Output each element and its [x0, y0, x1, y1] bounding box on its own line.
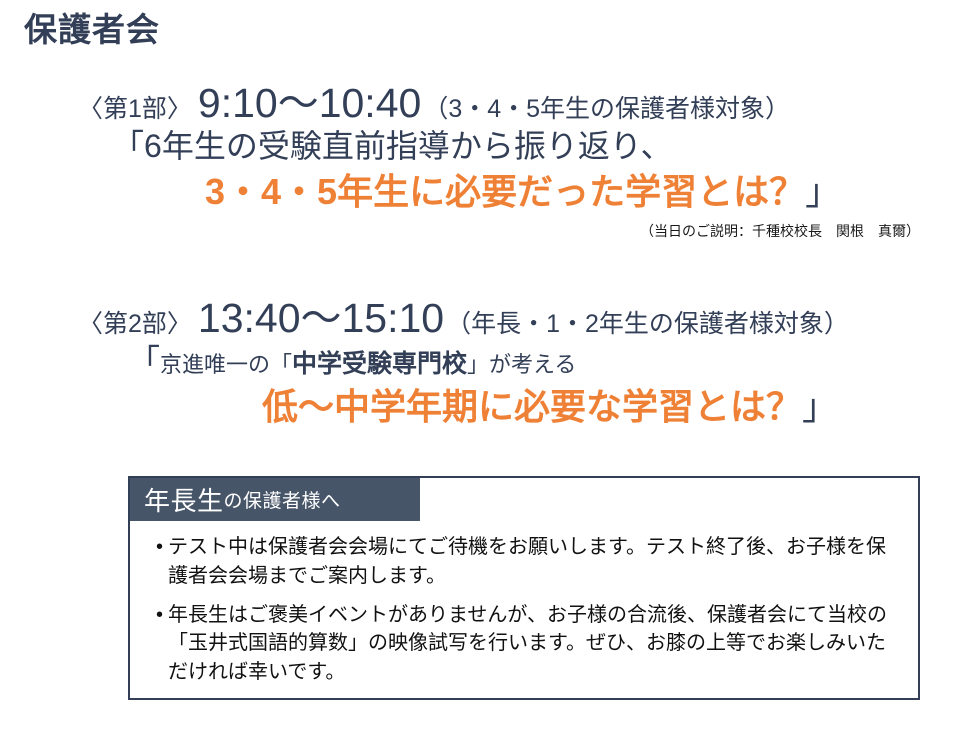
page-title: 保護者会	[24, 10, 160, 50]
session-1-quote-close: 」	[805, 171, 841, 212]
notice-box: 年長生の保護者様へ • テスト中は保護者会会場にてご待機をお願いします。テスト終…	[128, 476, 920, 700]
list-item: • テスト中は保護者会会場にてご待機をお願いします。テスト終了後、お子様を保護者…	[156, 533, 900, 591]
session-2-quote-close: 」	[802, 386, 838, 427]
session-1-quote-open: 「	[112, 128, 144, 164]
notice-body: • テスト中は保護者会会場にてご待機をお願いします。テスト終了後、お子様を保護者…	[130, 521, 918, 687]
notice-header-bar: 年長生の保護者様へ	[130, 478, 420, 521]
session-1-quote-text-1: 6年生の受験直前指導から振り返り、	[144, 128, 673, 164]
session-1-time-row: 〈第1部〉 9:10〜10:40 （3・4・5年生の保護者様対象）	[0, 82, 976, 125]
session-2-part-label: 〈第2部〉	[78, 304, 192, 340]
session-1-audience: （3・4・5年生の保護者様対象）	[423, 89, 790, 125]
session-1-part-label: 〈第1部〉	[78, 89, 192, 125]
session-2-quote-text-post: 」が考える	[467, 352, 576, 377]
list-item: • 年長生はご褒美イベントがありませんが、お子様の合流後、保護者会にて当校の「玉…	[156, 601, 900, 687]
session-1-time: 9:10〜10:40	[198, 82, 421, 125]
notice-item-text-1: テスト中は保護者会会場にてご待機をお願いします。テスト終了後、お子様を保護者会会…	[168, 533, 900, 591]
bullet-icon: •	[156, 601, 163, 630]
session-1-attribution: （当日のご説明：千種校校長 関根 真爾）	[0, 221, 976, 241]
session-1-quote-text-2: 3・4・5年生に必要だった学習とは？	[205, 171, 805, 212]
session-2-quote-open: 「	[128, 343, 160, 379]
session-2-time: 13:40〜15:10	[198, 297, 444, 340]
session-1-quote-line-2: 3・4・5年生に必要だった学習とは？」	[0, 168, 976, 217]
session-2-audience: （年長・1・2年生の保護者様対象）	[446, 304, 849, 340]
session-1-quote-line-1: 「6年生の受験直前指導から振り返り、	[0, 125, 976, 168]
session-2-quote-text-2: 低〜中学年期に必要な学習とは？	[262, 386, 802, 427]
session-2-quote-line-1: 「京進唯一の「中学受験専門校」が考える	[0, 340, 976, 383]
document-page: 保護者会 〈第1部〉 9:10〜10:40 （3・4・5年生の保護者様対象） 「…	[0, 0, 976, 733]
session-block-2: 〈第2部〉 13:40〜15:10 （年長・1・2年生の保護者様対象） 「京進唯…	[0, 297, 976, 432]
session-2-time-row: 〈第2部〉 13:40〜15:10 （年長・1・2年生の保護者様対象）	[0, 297, 976, 340]
session-block-1: 〈第1部〉 9:10〜10:40 （3・4・5年生の保護者様対象） 「6年生の受…	[0, 82, 976, 241]
session-2-quote-line-2: 低〜中学年期に必要な学習とは？」	[0, 383, 976, 432]
notice-header-target: 年長生	[144, 481, 224, 518]
bullet-icon: •	[156, 533, 163, 562]
notice-header-suffix: の保護者様へ	[224, 486, 341, 513]
session-2-quote-text-pre: 京進唯一の「	[160, 352, 292, 377]
session-2-quote-text-bold: 中学受験専門校	[292, 350, 467, 378]
notice-item-text-2: 年長生はご褒美イベントがありませんが、お子様の合流後、保護者会にて当校の「玉井式…	[168, 601, 900, 687]
